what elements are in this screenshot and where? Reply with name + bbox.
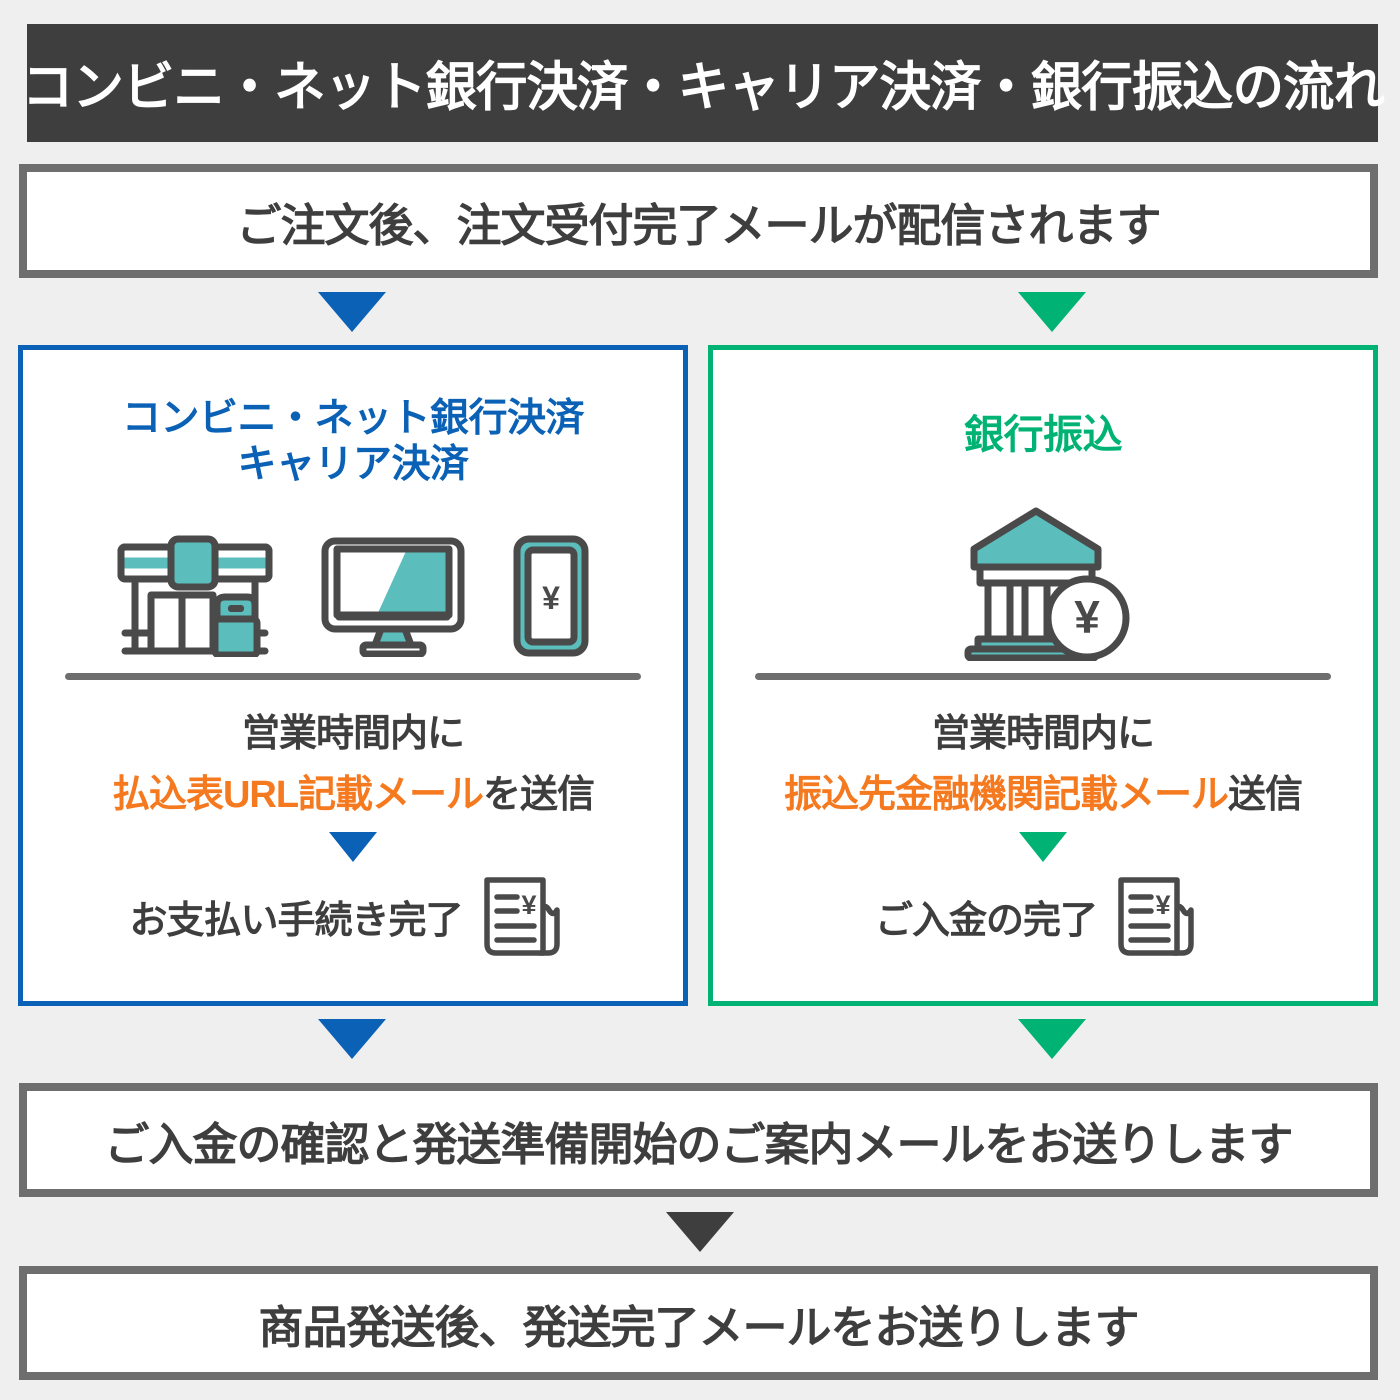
cvs-notice-highlight: 払込表URL記載メール — [112, 774, 483, 816]
bank-notice-highlight: 振込先金融機関記載メール — [784, 774, 1228, 816]
step-shipped-box: 商品発送後、発送完了メールをお送りします — [19, 1266, 1378, 1380]
bank-notice-line2: 振込先金融機関記載メール送信 — [713, 763, 1373, 818]
smartphone-yen-icon: ¥ — [511, 535, 591, 657]
desktop-monitor-icon — [319, 535, 467, 657]
svg-text:¥: ¥ — [521, 890, 536, 920]
cvs-notice-line2: 払込表URL記載メールを送信 — [23, 763, 683, 818]
step-payment-confirm-box: ご入金の確認と発送準備開始のご案内メールをお送りします — [19, 1083, 1378, 1197]
method-after-block-cvs: 営業時間内に 払込表URL記載メールを送信 お支払い手続き完了 ¥ — [23, 702, 683, 962]
bank-building-yen-icon: ¥ — [954, 505, 1132, 661]
receipt-yen-icon: ¥ — [1111, 870, 1211, 962]
method-icon-row-cvs: ¥ — [23, 535, 683, 657]
convenience-store-icon — [115, 535, 275, 657]
bank-final-label: ご入金の完了 — [875, 889, 1097, 944]
cvs-notice-tail: を送信 — [483, 774, 594, 816]
down-arrow-cvs-inner-icon — [329, 832, 377, 862]
svg-text:¥: ¥ — [542, 580, 560, 616]
bank-final-row: ご入金の完了 ¥ — [713, 870, 1373, 962]
method-panel-cvs: コンビニ・ネット銀行決済 キャリア決済 — [18, 345, 688, 1006]
bank-notice-tail: 送信 — [1228, 774, 1302, 816]
down-arrow-to-bank-icon — [1018, 292, 1086, 332]
bank-inner-arrow-wrap — [713, 832, 1373, 862]
down-arrow-to-cvs-icon — [318, 292, 386, 332]
cvs-inner-arrow-wrap — [23, 832, 683, 862]
header-bar: コンビニ・ネット銀行決済・キャリア決済・銀行振込の流れ — [27, 24, 1378, 142]
cvs-notice-line1: 営業時間内に — [23, 702, 683, 757]
svg-text:¥: ¥ — [1074, 591, 1100, 643]
panel-divider-cvs — [65, 673, 641, 680]
page-title: コンビニ・ネット銀行決済・キャリア決済・銀行振込の流れ — [22, 45, 1384, 121]
down-arrow-bank-out-icon — [1018, 1019, 1086, 1059]
down-arrow-cvs-out-icon — [318, 1019, 386, 1059]
step-order-label: ご注文後、注文受付完了メールが配信されます — [236, 189, 1160, 254]
step-payment-confirm-label: ご入金の確認と発送準備開始のご案内メールをお送りします — [104, 1108, 1292, 1173]
receipt-yen-icon: ¥ — [477, 870, 577, 962]
down-arrow-bottom-icon — [666, 1212, 734, 1252]
method-after-block-bank: 営業時間内に 振込先金融機関記載メール送信 ご入金の完了 ¥ — [713, 702, 1373, 962]
method-icon-row-bank: ¥ — [713, 505, 1373, 661]
cvs-final-row: お支払い手続き完了 ¥ — [23, 870, 683, 962]
bank-notice-line1: 営業時間内に — [713, 702, 1373, 757]
method-heading-bank: 銀行振込 — [713, 412, 1373, 459]
step-shipped-label: 商品発送後、発送完了メールをお送りします — [258, 1291, 1138, 1356]
cvs-final-label: お支払い手続き完了 — [129, 889, 462, 944]
down-arrow-bank-inner-icon — [1019, 832, 1067, 862]
method-heading-cvs: コンビニ・ネット銀行決済 キャリア決済 — [23, 396, 683, 488]
step-order-box: ご注文後、注文受付完了メールが配信されます — [19, 164, 1378, 278]
svg-text:¥: ¥ — [1155, 890, 1170, 920]
panel-divider-bank — [755, 673, 1331, 680]
method-panel-bank: 銀行振込 ¥ — [708, 345, 1378, 1006]
